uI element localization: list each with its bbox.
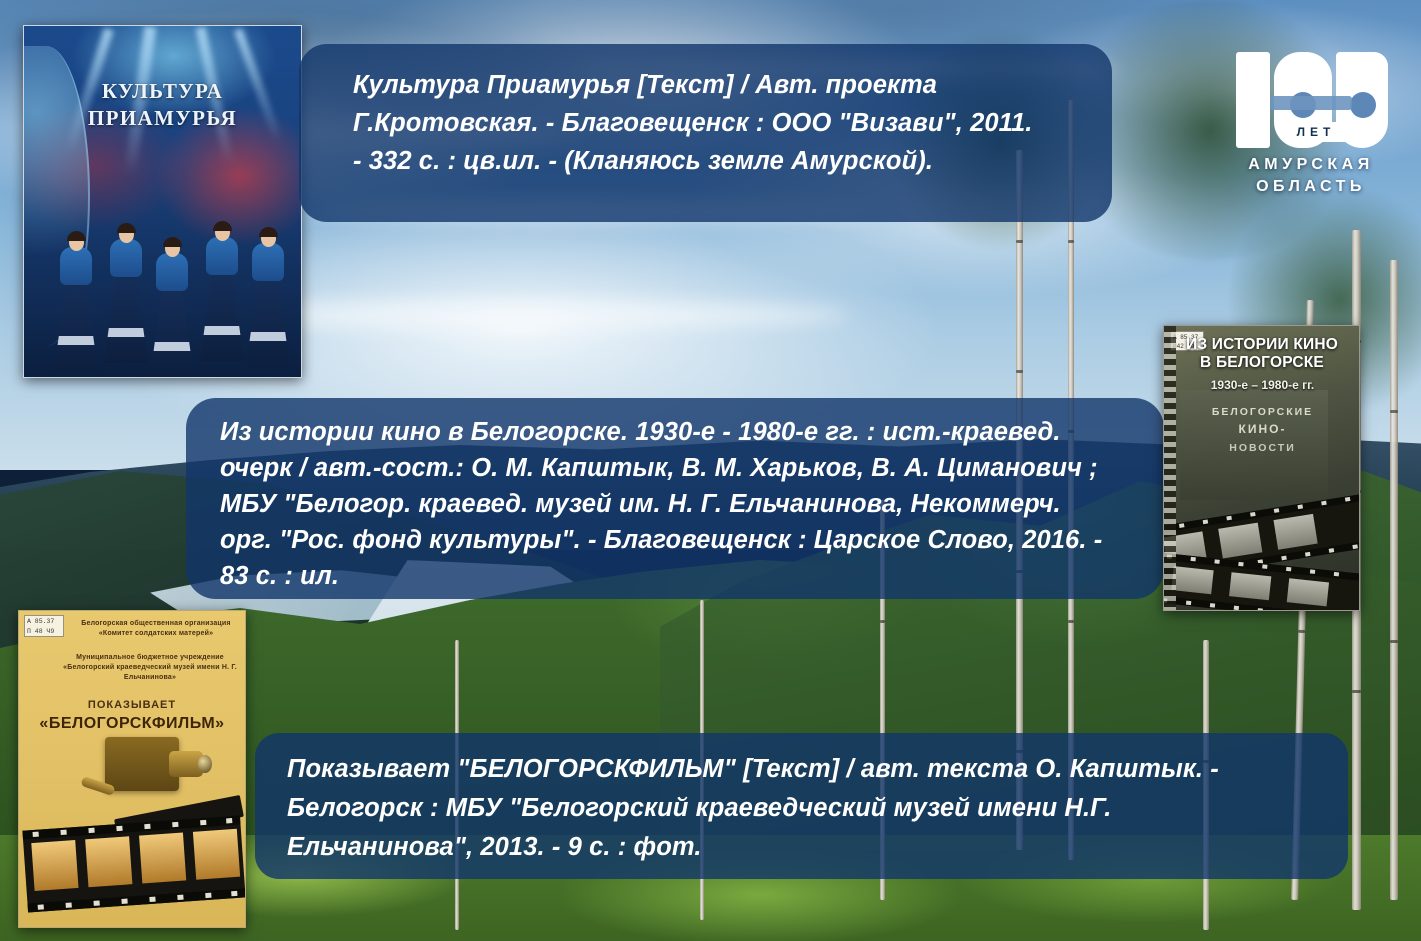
cover3-film-name: «БЕЛОГОРСКФИЛЬМ» (19, 715, 245, 733)
presentation-slide: КУЛЬТУРА ПРИАМУРЬЯ Культура Приамурья [Т… (0, 0, 1421, 941)
birch-trunk (1390, 260, 1398, 900)
anniversary-logo: ЛЕТ АМУРСКАЯ ОБЛАСТЬ (1226, 48, 1396, 208)
film-strip-lower (22, 815, 245, 912)
cover3-org-block-2: Муниципальное бюджетное учреждение «Бело… (57, 653, 243, 683)
logo-digit-5-counter (1350, 92, 1376, 118)
bibliographic-card-culture-priamurya: Культура Приамурья [Текст] / Авт. проект… (299, 44, 1112, 222)
bibliographic-card-belogorskfilm: Показывает "БЕЛОГОРСКФИЛЬМ" [Текст] / ав… (255, 733, 1348, 879)
cover2-inner-line1: БЕЛОГОРСКИЕ (1164, 406, 1360, 418)
cover1-title-line1: КУЛЬТУРА (102, 79, 223, 103)
card3-line3: Ельчанинова", 2013. - 9 с. : фот. (287, 828, 1328, 867)
card3-line1: Показывает "БЕЛОГОРСКФИЛЬМ" [Текст] / ав… (287, 750, 1328, 789)
cover3-org-line3: Муниципальное бюджетное учреждение (76, 654, 224, 661)
book-cover-iz-istorii-kino[interactable]: А 85.37 И42 Ав ИЗ ИСТОРИИ КИНО В БЕЛОГОР… (1163, 325, 1360, 611)
logo-years-word: ЛЕТ (1284, 122, 1348, 142)
card2-line1: Из истории кино в Белогорске. 1930-е - 1… (220, 414, 1146, 450)
card2-line2: очерк / авт.-сост.: О. М. Капштык, В. М.… (220, 450, 1146, 486)
cover2-title-line1: ИЗ ИСТОРИИ КИНО (1186, 336, 1338, 353)
cover3-show-word: ПОКАЗЫВАЕТ (19, 699, 245, 711)
movie-camera-icon (105, 737, 179, 791)
logo-region-line1: АМУРСКАЯ (1226, 156, 1396, 174)
card1-line3: - 332 с. : цв.ил. - (Кланяюсь земле Амур… (353, 142, 1078, 180)
cover2-title-line2: В БЕЛОГОРСКЕ (1200, 354, 1324, 371)
card1-line1: Культура Приамурья [Текст] / Авт. проект… (353, 66, 1078, 104)
cover3-call-number-label: А 85.37 П 48 Ч9 (24, 615, 64, 637)
cover1-title-line2: ПРИАМУРЬЯ (88, 106, 237, 130)
card2-line5: 83 с. : ил. (220, 558, 1146, 594)
logo-digit-1 (1236, 52, 1270, 148)
logo-region-line2: ОБЛАСТЬ (1226, 178, 1396, 196)
cover2-title: ИЗ ИСТОРИИ КИНО В БЕЛОГОРСКЕ (1172, 336, 1352, 372)
book-cover-belogorskfilm[interactable]: А 85.37 П 48 Ч9 Белогорская общественная… (18, 610, 246, 928)
cover1-title: КУЛЬТУРА ПРИАМУРЬЯ (24, 78, 301, 132)
book-cover-kultura-priamurya[interactable]: КУЛЬТУРА ПРИАМУРЬЯ (23, 25, 302, 378)
logo-165-mark: ЛЕТ (1234, 48, 1388, 152)
cover3-org-line4: «Белогорский краеведческий музей имени Н… (63, 664, 237, 681)
cover3-org-block-1: Белогорская общественная организация «Ко… (71, 619, 241, 639)
film-perforation-edge (1164, 326, 1176, 610)
bibliographic-card-kino-belogorsk: Из истории кино в Белогорске. 1930-е - 1… (186, 398, 1164, 599)
card2-line4: орг. "Рос. фонд культуры". - Благовещенс… (220, 522, 1146, 558)
cover2-years: 1930-е – 1980-е гг. (1164, 378, 1360, 392)
camera-lens-icon (169, 751, 203, 777)
cover2-inner-line2: КИНО- (1164, 422, 1360, 436)
logo-river-motif (1270, 96, 1352, 110)
cover2-inner-line3: НОВОСТИ (1164, 442, 1360, 454)
cover3-org-line2: «Комитет солдатских матерей» (99, 630, 213, 637)
cover3-org-line1: Белогорская общественная организация (81, 620, 230, 627)
card2-line3: МБУ "Белогор. краевед. музей им. Н. Г. Е… (220, 486, 1146, 522)
card1-line2: Г.Кротовская. - Благовещенск : ООО "Виза… (353, 104, 1078, 142)
card3-line2: Белогорск : МБУ "Белогорский краеведческ… (287, 789, 1328, 828)
